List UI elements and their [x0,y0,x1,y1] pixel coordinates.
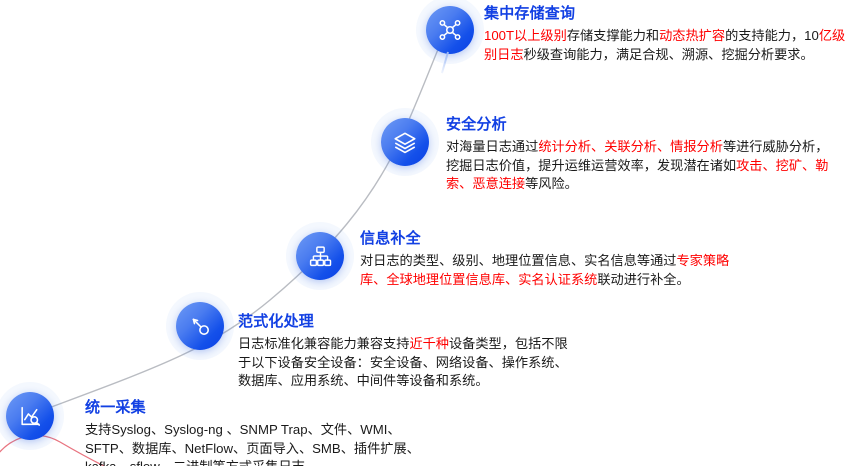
highlight-text: 近千种 [409,336,449,351]
sitemap-hierarchy-icon [308,244,333,269]
highlight-text: 统计分析、关联分析、情报分析 [538,139,723,154]
plain-text: 存储支撑能力和 [567,28,659,43]
step-body: 100T以上级别存储支撑能力和动态热扩容的支持能力，10亿级别日志秒级查询能力，… [484,27,856,64]
step-block-unified-collection: 统一采集 支持Syslog、Syslog-ng 、SNMP Trap、文件、WM… [85,396,485,466]
spellcheck-word: sflow [130,459,160,466]
step-title: 安全分析 [446,113,836,134]
step-title: 信息补全 [360,227,732,248]
plain-text: 对日志的类型、级别、地理位置信息、实名信息等通过 [360,253,677,268]
chart-search-icon [18,404,43,429]
node-normalization-processing[interactable] [176,302,224,350]
plain-text: 联动进行补全。 [597,272,689,287]
node-pin-tail [441,52,449,74]
diagram-canvas: 集中存储查询 100T以上级别存储支撑能力和动态热扩容的支持能力，10亿级别日志… [0,0,864,466]
step-body: 日志标准化兼容能力兼容支持近千种设备类型，包括不限于以下设备安全设备：安全设备、… [238,335,568,391]
spellcheck-word: kafka [85,459,117,466]
network-nodes-icon [437,17,463,43]
step-body: 支持Syslog、Syslog-ng 、SNMP Trap、文件、WMI、 SF… [85,421,485,466]
step-body: 对日志的类型、级别、地理位置信息、实名信息等通过专家策略库、全球地理位置信息库、… [360,252,732,289]
highlight-text: 动态热扩容 [659,28,725,43]
plain-text: 对海量日志通过 [446,139,538,154]
step-block-normalization-processing: 范式化处理 日志标准化兼容能力兼容支持近千种设备类型，包括不限于以下设备安全设备… [238,310,568,391]
step-block-centralized-storage-query: 集中存储查询 100T以上级别存储支撑能力和动态热扩容的支持能力，10亿级别日志… [484,2,856,64]
key-icon [188,314,213,339]
plain-text: 秒级查询能力，满足合规、溯源、挖掘分析要求。 [524,47,814,62]
plain-text: 等风险。 [525,176,578,191]
step-block-information-completion: 信息补全 对日志的类型、级别、地理位置信息、实名信息等通过专家策略库、全球地理位… [360,227,732,289]
step-block-security-analysis: 安全分析 对海量日志通过统计分析、关联分析、情报分析等进行威胁分析，挖掘日志价值… [446,113,836,194]
node-centralized-storage-query[interactable] [426,6,474,54]
body-line-spellchecked: kafka、sflow、二进制等方式采集日志。 [85,459,318,466]
step-title: 统一采集 [85,396,485,417]
plain-text: 日志标准化兼容能力兼容支持 [238,336,409,351]
layers-stack-icon [392,129,418,155]
body-line: 支持Syslog、Syslog-ng 、SNMP Trap、文件、WMI、 [85,422,401,437]
step-body: 对海量日志通过统计分析、关联分析、情报分析等进行威胁分析，挖掘日志价值，提升运维… [446,138,836,194]
body-line: SFTP、数据库、NetFlow、页面导入、SMB、插件扩展、 [85,441,420,456]
step-title: 集中存储查询 [484,2,856,23]
node-security-analysis[interactable] [381,118,429,166]
step-title: 范式化处理 [238,310,568,331]
plain-text: 的支持能力，10 [725,28,819,43]
node-unified-collection[interactable] [6,392,54,440]
node-information-completion[interactable] [296,232,344,280]
highlight-text: 100T以上级别 [484,28,567,43]
